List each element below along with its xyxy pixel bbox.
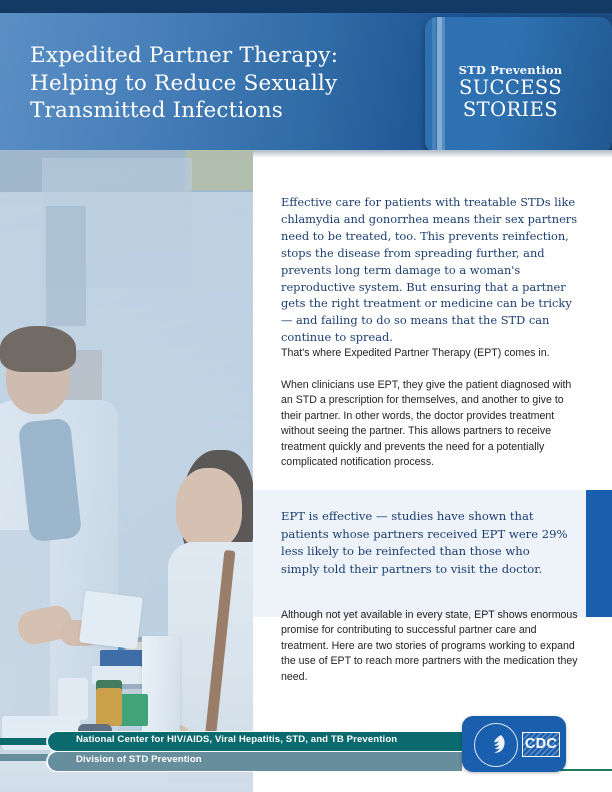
cdc-wordmark-box: CDC [522,732,560,757]
series-title-stories: STORIES [425,99,596,121]
pharmacy-photo [0,150,253,792]
callout-text: EPT is effective — studies have shown th… [281,508,571,578]
footer-bar-center: National Center for HIV/AIDS, Viral Hepa… [48,732,462,751]
body-paragraph-2: That's where Expedited Partner Therapy (… [281,346,584,361]
series-kicker: STD Prevention [425,63,596,77]
cdc-wordmark: CDC [523,736,559,752]
hhs-eagle-icon [484,733,508,757]
hhs-seal-icon [474,723,518,767]
footer-left-tab-top [0,738,48,745]
body-paragraph-4: Although not yet available in every stat… [281,608,584,685]
footer-green-rule [560,769,612,771]
top-accent-strip [0,0,612,13]
lead-paragraph: Effective care for patients with treatab… [281,194,581,346]
series-tab-text: STD Prevention SUCCESS STORIES [425,63,596,121]
footer-division-label: Division of STD Prevention [76,754,202,765]
content-top-shadow [253,150,612,158]
series-title-success: SUCCESS [425,77,596,99]
series-tab-panel: STD Prevention SUCCESS STORIES [425,17,612,153]
footer-center-label: National Center for HIV/AIDS, Viral Hepa… [76,734,397,745]
body-paragraph-3: When clinicians use EPT, they give the p… [281,378,584,470]
footer-bar-division: Division of STD Prevention [48,752,462,771]
page-title: Expedited Partner Therapy: Helping to Re… [30,42,410,125]
cdc-logo: CDC [462,716,566,772]
content-column: Effective care for patients with treatab… [253,150,612,792]
document-page: Expedited Partner Therapy: Helping to Re… [0,0,612,792]
footer-left-tab-bottom [0,754,48,761]
photo-blue-tint-overlay [0,150,253,792]
statistic-callout: EPT is effective — studies have shown th… [253,490,612,617]
callout-accent-bar [586,490,612,617]
